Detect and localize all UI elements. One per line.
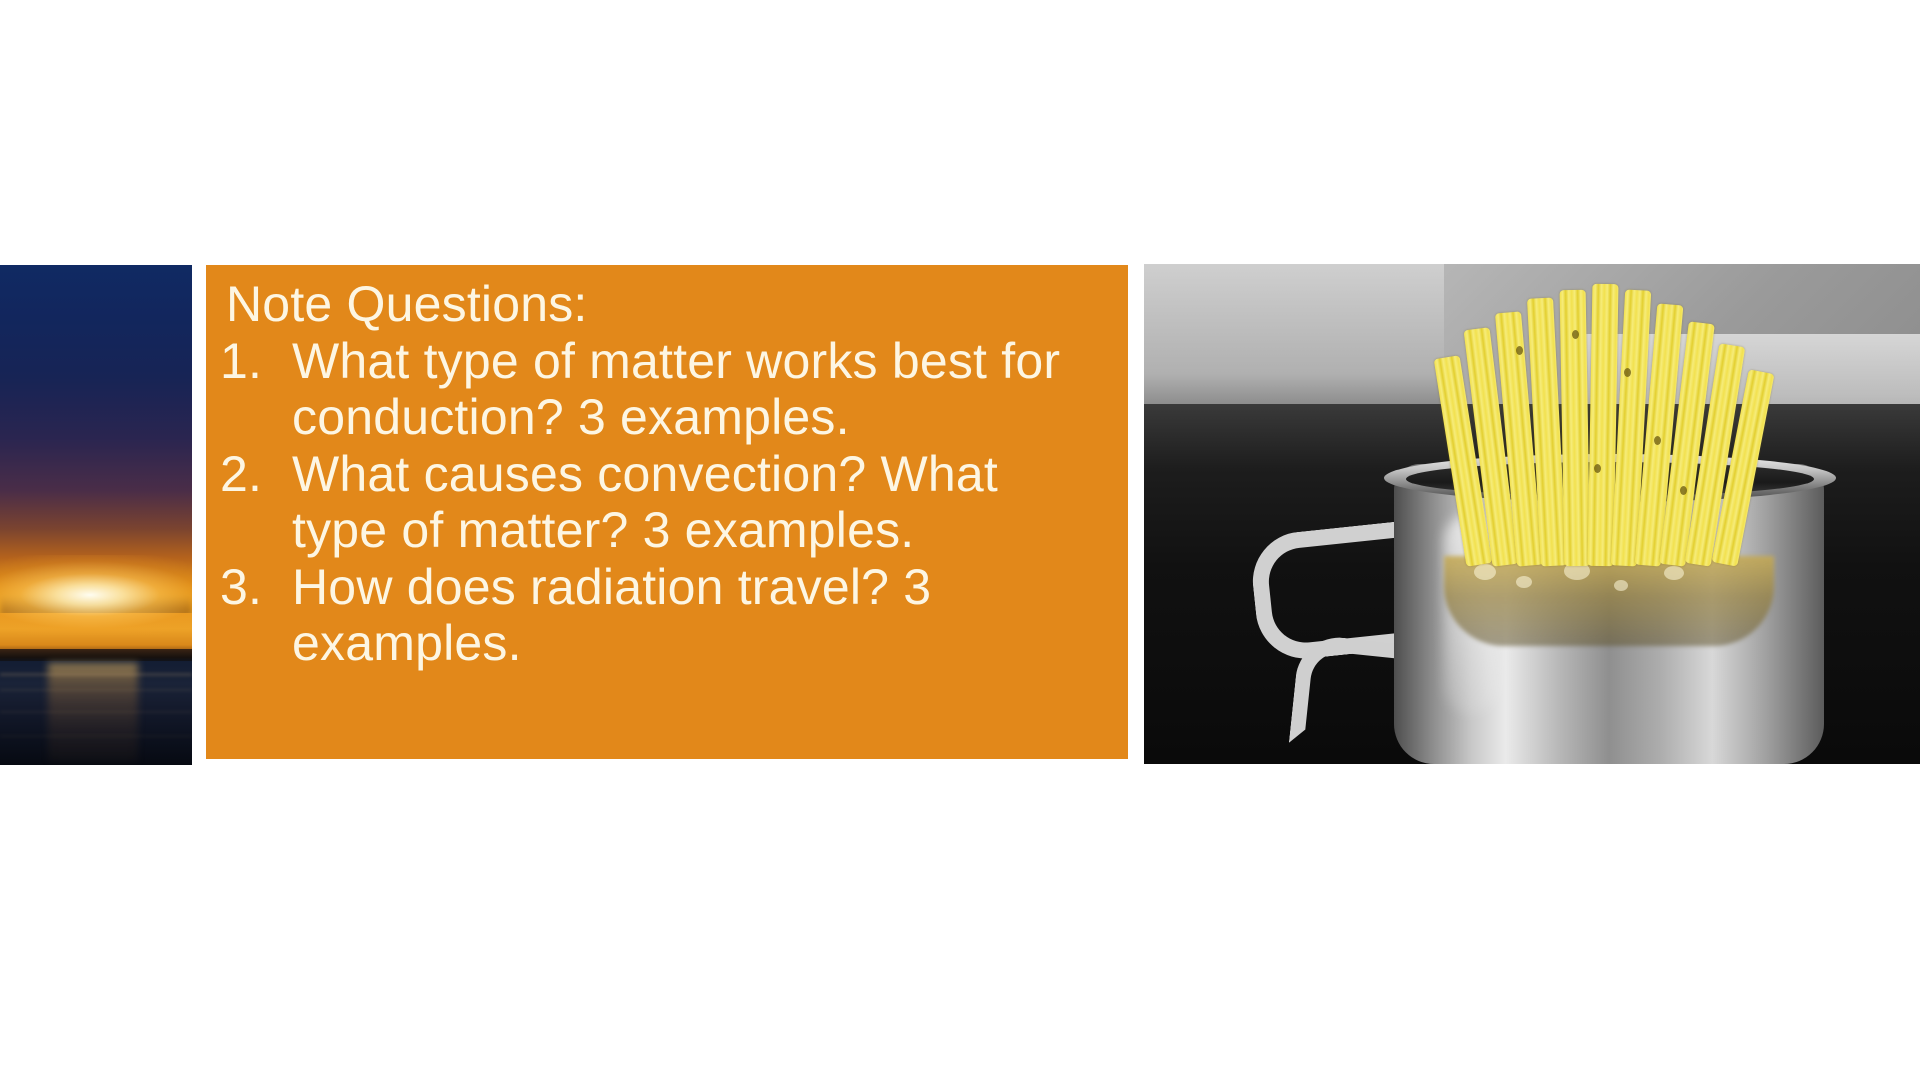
water-bubble: [1664, 566, 1684, 580]
pasta-boiling-in-pot-photo: [1144, 264, 1920, 764]
list-item-text: What type of matter works best for condu…: [292, 333, 1092, 445]
list-item-text: What causes convection? What type of mat…: [292, 446, 1092, 558]
noodle-speck: [1654, 436, 1661, 445]
lasagna-noodles: [1444, 276, 1774, 566]
list-item-text: How does radiation travel? 3 examples.: [292, 559, 1092, 671]
list-item-number: 2.: [220, 446, 292, 502]
list-item: 1. What type of matter works best for co…: [220, 333, 1108, 445]
sun-glow: [0, 555, 192, 635]
questions-list: 1. What type of matter works best for co…: [220, 333, 1108, 671]
list-item-number: 3.: [220, 559, 292, 615]
list-item-number: 1.: [220, 333, 292, 389]
wave-line: [0, 711, 192, 713]
water-bubble: [1516, 576, 1532, 588]
water-bubble: [1474, 564, 1496, 580]
wave-line: [0, 673, 192, 676]
note-questions-panel: Note Questions: 1. What type of matter w…: [206, 265, 1128, 759]
noodle-speck: [1594, 464, 1601, 473]
noodle-speck: [1680, 486, 1687, 495]
sun-reflection-on-water: [48, 663, 138, 763]
noodle-speck: [1572, 330, 1579, 339]
slide-canvas: Note Questions: 1. What type of matter w…: [0, 0, 1920, 1080]
sunset-over-ocean-photo: [0, 265, 192, 765]
water-bubble: [1614, 580, 1628, 591]
list-item: 3. How does radiation travel? 3 examples…: [220, 559, 1108, 671]
panel-title: Note Questions:: [226, 277, 1108, 331]
noodle-speck: [1624, 368, 1631, 377]
noodle-speck: [1516, 346, 1523, 355]
wave-line: [0, 735, 192, 737]
list-item: 2. What causes convection? What type of …: [220, 446, 1108, 558]
wave-line: [0, 689, 192, 691]
